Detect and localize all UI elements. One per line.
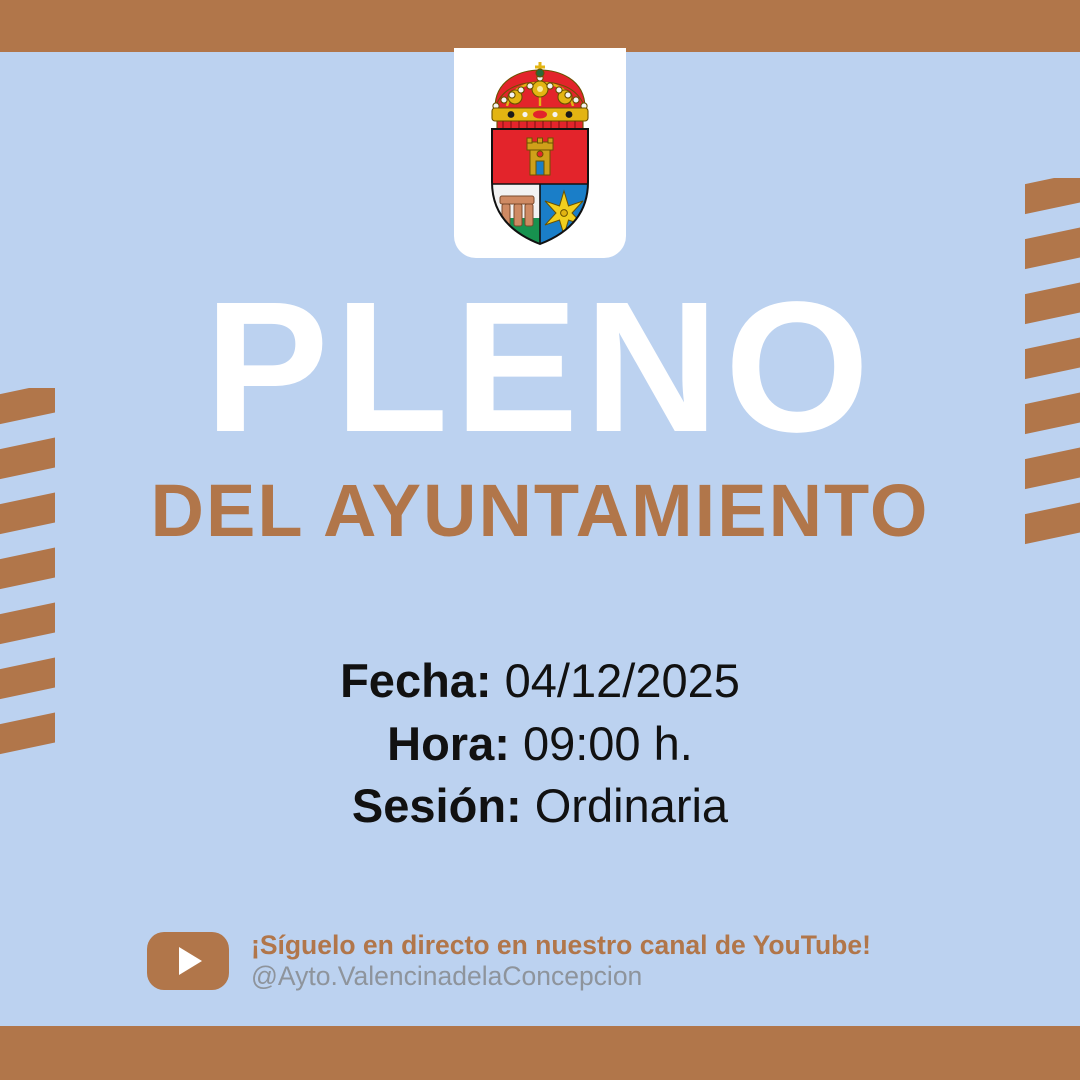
detail-label-fecha: Fecha: [340,654,492,707]
detail-value-fecha: 04/12/2025 [505,654,740,707]
youtube-call-to-action: ¡Síguelo en directo en nuestro canal de … [251,930,871,961]
play-triangle-icon [179,947,202,975]
page-title: PLENO [0,288,1080,448]
detail-value-hora: 09:00 h. [523,717,693,770]
session-details: Fecha: 04/12/2025 Hora: 09:00 h. Sesión:… [0,650,1080,838]
detail-row-hora: Hora: 09:00 h. [0,713,1080,776]
bottom-accent-bar [0,1026,1080,1080]
decorative-stripe [0,599,55,646]
youtube-footer[interactable]: ¡Síguelo en directo en nuestro canal de … [147,930,871,993]
logo-card [454,48,626,258]
poster-canvas: PLENO DEL AYUNTAMIENTO Fecha: 04/12/2025… [0,0,1080,1080]
detail-label-sesion: Sesión: [352,779,522,832]
headline-block: PLENO DEL AYUNTAMIENTO [0,288,1080,548]
youtube-text-block: ¡Síguelo en directo en nuestro canal de … [251,930,871,993]
decorative-stripe [1025,178,1080,217]
detail-value-sesion: Ordinaria [535,779,728,832]
detail-label-hora: Hora: [387,717,510,770]
decorative-stripe [1025,224,1080,271]
detail-row-sesion: Sesión: Ordinaria [0,775,1080,838]
youtube-icon[interactable] [147,932,229,990]
coat-of-arms-icon [465,56,615,251]
youtube-handle[interactable]: @Ayto.ValencinadelaConcepcion [251,961,871,992]
detail-row-fecha: Fecha: 04/12/2025 [0,650,1080,713]
top-accent-bar [0,0,1080,52]
page-subtitle: DEL AYUNTAMIENTO [0,474,1080,548]
decorative-stripe [0,544,55,591]
